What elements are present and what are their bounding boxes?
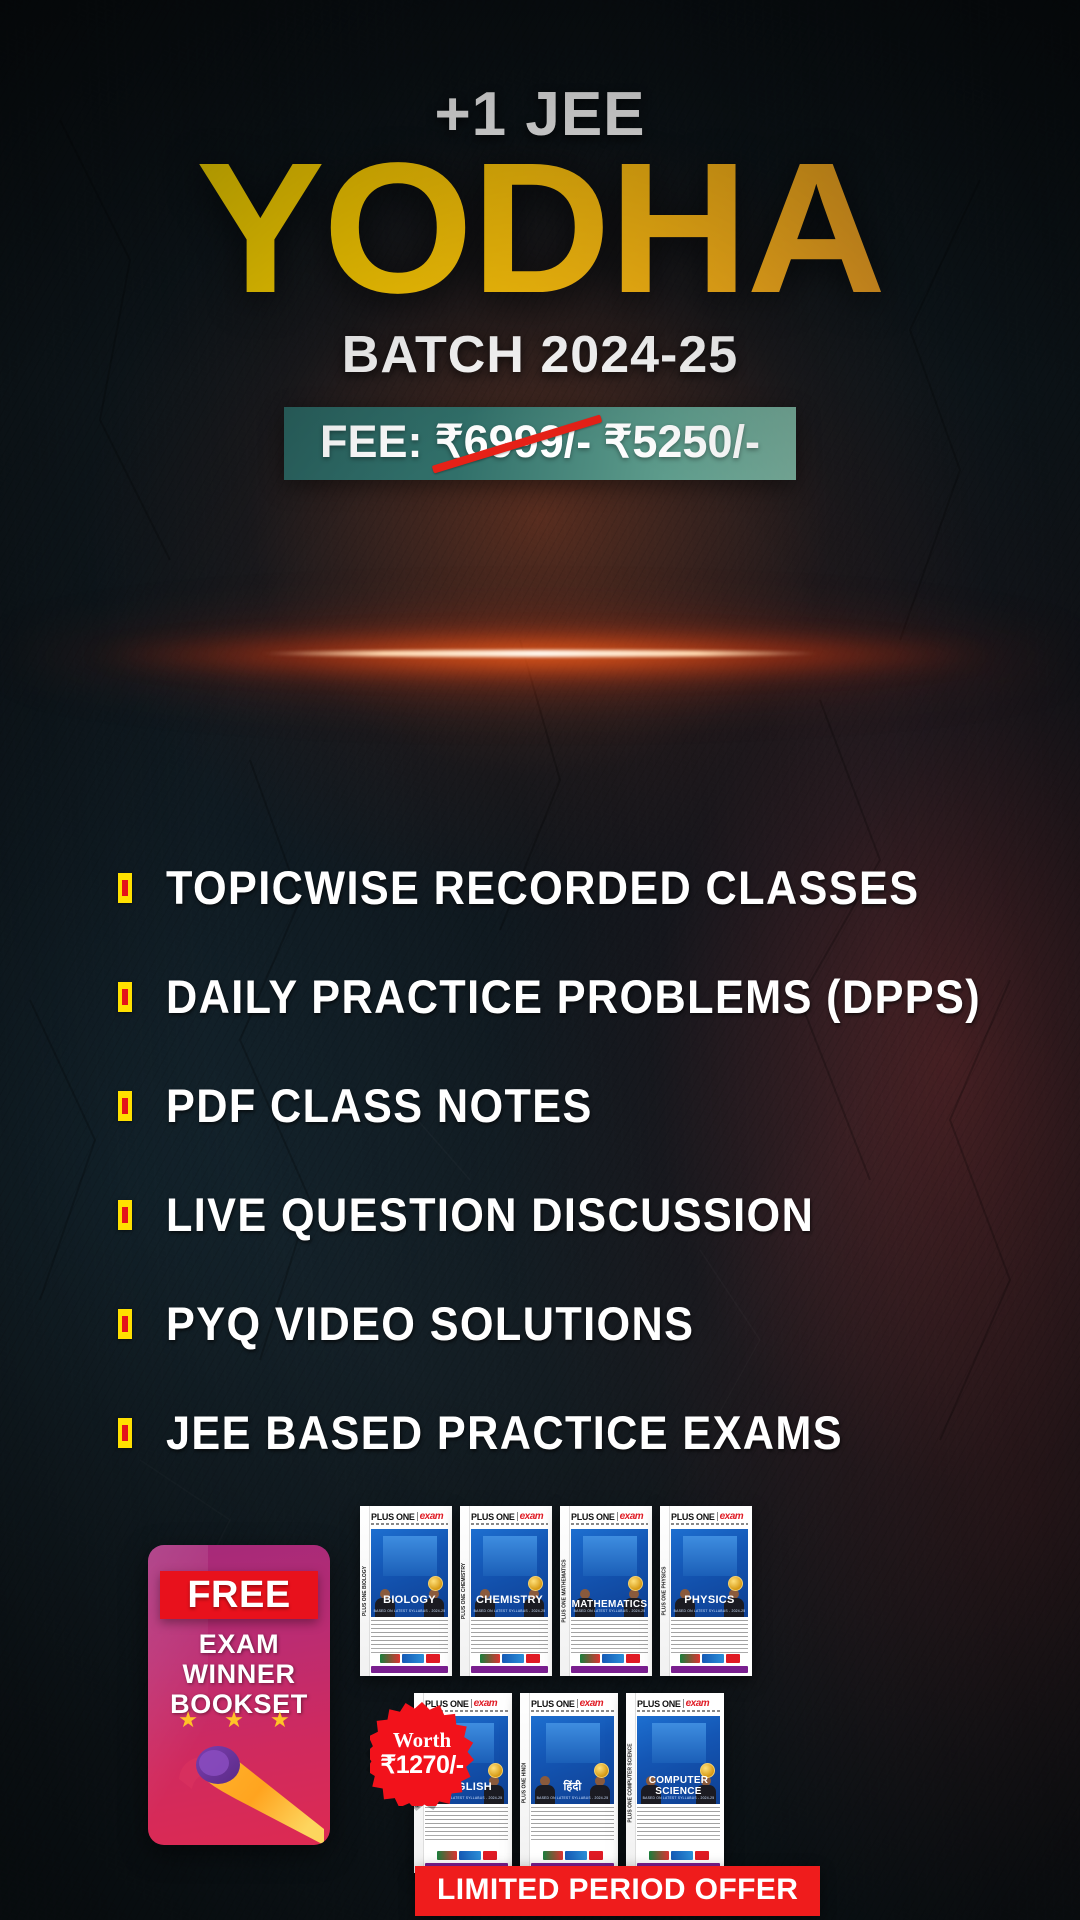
- book-logos: [531, 1850, 614, 1861]
- limited-period-offer-label: LIMITED PERIOD OFFER: [437, 1873, 798, 1906]
- logo-1-icon: [380, 1654, 400, 1663]
- book-photo-panel: हिंदी BASED ON LATEST SYLLABUS - 2024-25: [531, 1716, 614, 1804]
- logo-2-icon: [602, 1654, 624, 1663]
- book-brand: PLUS ONE exam: [531, 1698, 614, 1709]
- book-photo: [652, 1723, 706, 1763]
- book-spine-label: PLUS ONE CHEMISTRY: [462, 1563, 468, 1619]
- book-brand: PLUS ONE exam: [671, 1511, 748, 1522]
- book-header: PLUS ONE exam: [371, 1511, 448, 1526]
- book-logos: [637, 1850, 720, 1861]
- brand-divider: [617, 1512, 618, 1521]
- logo-3-icon: [483, 1851, 497, 1860]
- book-footer-bar: [471, 1666, 548, 1673]
- brand-examwinner: exam: [420, 1511, 444, 1522]
- book-subcaption: BASED ON LATEST SYLLABUS - 2024-25: [637, 1796, 720, 1800]
- book-spine: PLUS ONE HINDI: [520, 1693, 530, 1873]
- medal-icon: [728, 1576, 743, 1591]
- book-row-1: PLUS ONE BIOLOGY PLUS ONE exam BIOLOGY B…: [360, 1506, 752, 1676]
- brand-plusone: PLUS ONE: [531, 1699, 575, 1709]
- book-photo-panel: MATHEMATICS BASED ON LATEST SYLLABUS - 2…: [571, 1529, 648, 1617]
- brand-plusone: PLUS ONE: [471, 1512, 515, 1522]
- book-logos: [571, 1653, 648, 1664]
- brand-divider: [517, 1512, 518, 1521]
- logo-3-icon: [626, 1654, 640, 1663]
- book-photo-panel: BIOLOGY BASED ON LATEST SYLLABUS - 2024-…: [371, 1529, 448, 1617]
- book-subcaption: BASED ON LATEST SYLLABUS - 2024-25: [671, 1609, 748, 1613]
- book-logos: [671, 1653, 748, 1664]
- list-item: DAILY PRACTICE PROBLEMS (DPPS): [118, 969, 968, 1024]
- book-subcaption: BASED ON LATEST SYLLABUS - 2024-25: [571, 1609, 648, 1613]
- book-logos: [425, 1850, 508, 1861]
- free-bookset-card: FREE EXAM WINNER BOOKSET ★ ★ ★: [148, 1545, 330, 1845]
- list-item: TOPICWISE RECORDED CLASSES: [118, 860, 968, 915]
- book-tagline: [471, 1523, 548, 1525]
- logo-1-icon: [437, 1851, 457, 1860]
- feature-label: PDF CLASS NOTES: [166, 1078, 593, 1133]
- book-photo-panel: COMPUTER SCIENCE BASED ON LATEST SYLLABU…: [637, 1716, 720, 1804]
- rolled-paper-cone-icon: [174, 1743, 324, 1845]
- book-midtext: [637, 1835, 720, 1843]
- book-brand: PLUS ONE exam: [371, 1511, 448, 1522]
- book-subcaption: BASED ON LATEST SYLLABUS - 2024-25: [371, 1609, 448, 1613]
- limited-period-offer-banner: LIMITED PERIOD OFFER: [415, 1866, 820, 1916]
- medal-icon: [594, 1763, 609, 1778]
- book-spine: PLUS ONE MATHEMATICS: [560, 1506, 570, 1676]
- book-cover: PLUS ONE BIOLOGY PLUS ONE exam BIOLOGY B…: [360, 1506, 452, 1676]
- feature-label: DAILY PRACTICE PROBLEMS (DPPS): [166, 969, 981, 1024]
- book-cover: PLUS ONE COMPUTER SCIENCE PLUS ONE exam …: [626, 1693, 724, 1873]
- book-photo: [683, 1536, 737, 1576]
- stars-icon: ★ ★ ★: [148, 1707, 330, 1733]
- book-spine-label: PLUS ONE MATHEMATICS: [562, 1559, 568, 1622]
- book-photo-panel: PHYSICS BASED ON LATEST SYLLABUS - 2024-…: [671, 1529, 748, 1617]
- brand-examwinner: exam: [620, 1511, 644, 1522]
- book-tagline: [637, 1710, 720, 1712]
- book-subject: BIOLOGY: [371, 1595, 448, 1607]
- feature-label: PYQ VIDEO SOLUTIONS: [166, 1296, 694, 1351]
- book-blurb: [531, 1807, 614, 1833]
- book-subject: COMPUTER SCIENCE: [637, 1776, 720, 1797]
- book-spine: PLUS ONE PHYSICS: [660, 1506, 670, 1676]
- book-spine: PLUS ONE CHEMISTRY: [460, 1506, 470, 1676]
- logo-3-icon: [526, 1654, 540, 1663]
- brand-divider: [683, 1699, 684, 1708]
- book-subject: हिंदी: [531, 1782, 614, 1794]
- book-logos: [371, 1653, 448, 1664]
- brand-examwinner: exam: [720, 1511, 744, 1522]
- list-item: PDF CLASS NOTES: [118, 1078, 968, 1133]
- logo-1-icon: [649, 1851, 669, 1860]
- bullet-icon: [118, 1418, 132, 1448]
- book-logos: [471, 1653, 548, 1664]
- book-header: PLUS ONE exam: [637, 1698, 720, 1713]
- book-blurb: [571, 1620, 648, 1646]
- medal-icon: [428, 1576, 443, 1591]
- bullet-icon: [118, 1309, 132, 1339]
- bullet-icon: [118, 1091, 132, 1121]
- brand-examwinner: exam: [686, 1698, 710, 1709]
- bullet-icon: [118, 1200, 132, 1230]
- book-spine: PLUS ONE BIOLOGY: [360, 1506, 370, 1676]
- book-blurb: [371, 1620, 448, 1646]
- book-photo: [583, 1536, 637, 1576]
- book-subcaption: BASED ON LATEST SYLLABUS - 2024-25: [471, 1609, 548, 1613]
- book-subcaption: BASED ON LATEST SYLLABUS - 2024-25: [531, 1796, 614, 1800]
- logo-1-icon: [680, 1654, 700, 1663]
- logo-1-icon: [543, 1851, 563, 1860]
- logo-3-icon: [726, 1654, 740, 1663]
- brand-examwinner: exam: [474, 1698, 498, 1709]
- logo-1-icon: [580, 1654, 600, 1663]
- logo-2-icon: [702, 1654, 724, 1663]
- book-photo: [383, 1536, 437, 1576]
- book-subject: CHEMISTRY: [471, 1595, 548, 1607]
- book-photo-panel: CHEMISTRY BASED ON LATEST SYLLABUS - 202…: [471, 1529, 548, 1617]
- book-tagline: [531, 1710, 614, 1712]
- brand-divider: [717, 1512, 718, 1521]
- book-footer-bar: [371, 1666, 448, 1673]
- brand-divider: [577, 1699, 578, 1708]
- feature-list: TOPICWISE RECORDED CLASSES DAILY PRACTIC…: [118, 860, 968, 1514]
- logo-2-icon: [671, 1851, 693, 1860]
- book-photo: [546, 1723, 600, 1763]
- medal-icon: [488, 1763, 503, 1778]
- worth-amount: ₹1270/-: [370, 1750, 474, 1780]
- brand-plusone: PLUS ONE: [371, 1512, 415, 1522]
- free-label: FREE: [187, 1574, 290, 1617]
- logo-3-icon: [426, 1654, 440, 1663]
- logo-2-icon: [565, 1851, 587, 1860]
- free-ribbon: FREE: [160, 1571, 318, 1619]
- book-midtext: [425, 1835, 508, 1843]
- book-tagline: [671, 1523, 748, 1525]
- bullet-icon: [118, 873, 132, 903]
- feature-label: TOPICWISE RECORDED CLASSES: [166, 860, 919, 915]
- list-item: LIVE QUESTION DISCUSSION: [118, 1187, 968, 1242]
- promo-poster: +1 JEE YODHA BATCH 2024-25 FEE: ₹6999/- …: [0, 0, 1080, 1920]
- medal-icon: [628, 1576, 643, 1591]
- feature-label: JEE BASED PRACTICE EXAMS: [166, 1405, 843, 1460]
- book-brand: PLUS ONE exam: [637, 1698, 720, 1709]
- brand-examwinner: exam: [520, 1511, 544, 1522]
- book-midtext: [531, 1835, 614, 1843]
- medal-icon: [528, 1576, 543, 1591]
- brand-plusone: PLUS ONE: [671, 1512, 715, 1522]
- book-tagline: [571, 1523, 648, 1525]
- feature-label: LIVE QUESTION DISCUSSION: [166, 1187, 814, 1242]
- logo-2-icon: [502, 1654, 524, 1663]
- logo-3-icon: [695, 1851, 709, 1860]
- book-brand: PLUS ONE exam: [571, 1511, 648, 1522]
- book-spine-label: PLUS ONE HINDI: [522, 1763, 528, 1804]
- logo-2-icon: [402, 1654, 424, 1663]
- book-header: PLUS ONE exam: [671, 1511, 748, 1526]
- logo-3-icon: [589, 1851, 603, 1860]
- book-spine: PLUS ONE COMPUTER SCIENCE: [626, 1693, 636, 1873]
- book-spine-label: PLUS ONE COMPUTER SCIENCE: [628, 1743, 634, 1822]
- book-tagline: [371, 1523, 448, 1525]
- logo-2-icon: [459, 1851, 481, 1860]
- book-cover: PLUS ONE HINDI PLUS ONE exam हिंदी BASED…: [520, 1693, 618, 1873]
- bullet-icon: [118, 982, 132, 1012]
- book-spine-label: PLUS ONE PHYSICS: [662, 1567, 668, 1616]
- book-blurb: [671, 1620, 748, 1646]
- list-item: PYQ VIDEO SOLUTIONS: [118, 1296, 968, 1351]
- book-cover: PLUS ONE PHYSICS PLUS ONE exam PHYSICS B…: [660, 1506, 752, 1676]
- book-footer-bar: [571, 1666, 648, 1673]
- brand-plusone: PLUS ONE: [637, 1699, 681, 1709]
- book-cover: PLUS ONE CHEMISTRY PLUS ONE exam CHEMIST…: [460, 1506, 552, 1676]
- book-blurb: [425, 1807, 508, 1833]
- book-spine-label: PLUS ONE BIOLOGY: [362, 1566, 368, 1616]
- list-item: JEE BASED PRACTICE EXAMS: [118, 1405, 968, 1460]
- brand-divider: [417, 1512, 418, 1521]
- logo-1-icon: [480, 1654, 500, 1663]
- book-header: PLUS ONE exam: [571, 1511, 648, 1526]
- book-footer-bar: [671, 1666, 748, 1673]
- book-blurb: [471, 1620, 548, 1646]
- book-brand: PLUS ONE exam: [471, 1511, 548, 1522]
- book-header: PLUS ONE exam: [531, 1698, 614, 1713]
- book-photo: [483, 1536, 537, 1576]
- book-cover: PLUS ONE MATHEMATICS PLUS ONE exam MATHE…: [560, 1506, 652, 1676]
- book-subject: PHYSICS: [671, 1595, 748, 1607]
- book-blurb: [637, 1807, 720, 1833]
- worth-badge: Worth ₹1270/-: [370, 1702, 474, 1806]
- book-header: PLUS ONE exam: [471, 1511, 548, 1526]
- brand-plusone: PLUS ONE: [571, 1512, 615, 1522]
- brand-examwinner: exam: [580, 1698, 604, 1709]
